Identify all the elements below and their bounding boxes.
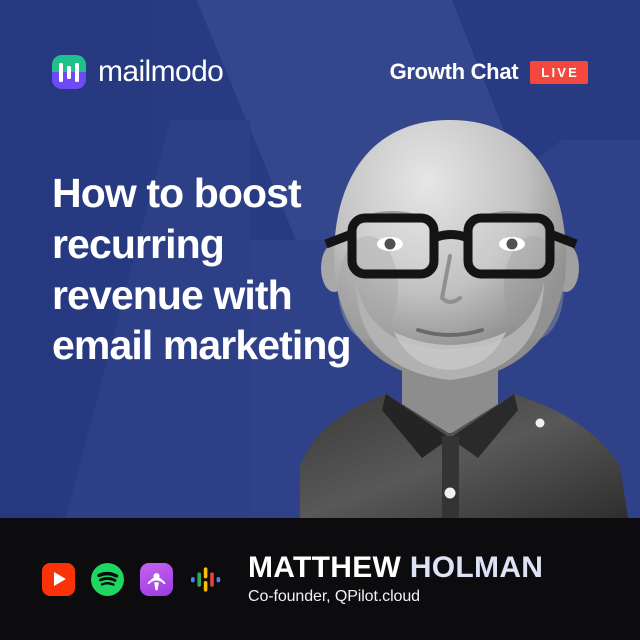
headline-line-3: revenue with	[52, 270, 422, 321]
speaker-role: Co-founder, QPilot.cloud	[248, 589, 543, 605]
headline: How to boost recurring revenue with emai…	[52, 168, 422, 371]
headline-line-1: How to boost	[52, 168, 422, 219]
webinar-promo-poster: mailmodo Growth Chat LIVE How to boost r…	[0, 0, 640, 640]
mailmodo-brand: mailmodo	[52, 55, 223, 89]
speaker-first-name: MATTHEW	[248, 551, 401, 584]
poster-header: mailmodo Growth Chat LIVE	[0, 48, 640, 96]
apple-podcasts-icon[interactable]	[140, 563, 173, 596]
google-podcasts-icon[interactable]	[189, 563, 222, 596]
speaker-last-name: HOLMAN	[410, 551, 543, 584]
headline-line-2: recurring	[52, 219, 422, 270]
speaker-info: MATTHEW HOLMAN Co-founder, QPilot.cloud	[222, 553, 543, 605]
show-title-group: Growth Chat LIVE	[390, 59, 588, 85]
youtube-icon[interactable]	[42, 563, 75, 596]
live-badge: LIVE	[530, 61, 588, 84]
platform-icons	[0, 563, 222, 596]
show-name: Growth Chat	[390, 59, 519, 85]
speaker-name: MATTHEW HOLMAN	[248, 553, 543, 583]
headline-line-4: email marketing	[52, 320, 422, 371]
mailmodo-wordmark: mailmodo	[98, 57, 223, 87]
spotify-icon[interactable]	[91, 563, 124, 596]
poster-footer: MATTHEW HOLMAN Co-founder, QPilot.cloud	[0, 518, 640, 640]
mailmodo-logo-icon	[52, 55, 86, 89]
